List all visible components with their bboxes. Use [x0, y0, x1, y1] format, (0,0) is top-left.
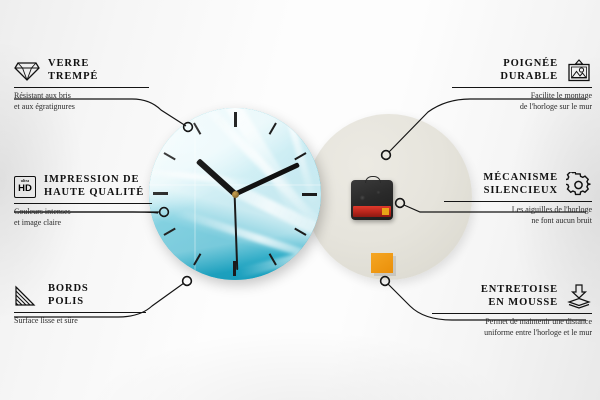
feature-title: IMPRESSION DE HAUTE QUALITÉ [44, 174, 144, 200]
feature-title: VERRE TREMPÉ [48, 58, 98, 84]
feature-description: Couleurs intenses et image claire [14, 207, 152, 229]
divider [432, 313, 592, 314]
divider [444, 201, 592, 202]
feature-title: POIGNÉE DURABLE [500, 58, 558, 84]
feature-description: Résistant aux bris et aux égratignures [14, 91, 149, 113]
feature-poignee-durable: POIGNÉE DURABLE Facilite le montage de l… [452, 58, 592, 112]
battery [353, 206, 391, 217]
feature-mecanisme-silencieux: MÉCANISME SILENCIEUX Les aiguilles de l'… [444, 172, 592, 227]
feature-title: MÉCANISME SILENCIEUX [483, 172, 558, 198]
divider [14, 312, 146, 313]
feature-title: ENTRETOISE EN MOUSSE [481, 284, 558, 310]
foam-spacer [371, 253, 393, 273]
feature-description: Les aiguilles de l'horloge ne font aucun… [444, 205, 592, 227]
divider [14, 203, 152, 204]
foam-spacer-icon [566, 284, 592, 310]
clock-front-view [149, 108, 321, 280]
feature-verre-trempe: VERRE TREMPÉ Résistant aux bris et aux é… [14, 58, 149, 112]
movement-detail [356, 187, 388, 205]
feature-entretoise-en-mousse: ENTRETOISE EN MOUSSE Permet de maintenir… [432, 284, 592, 339]
feature-description: Surface lisse et sûre [14, 316, 146, 327]
divider [14, 87, 149, 88]
clock-tick-3 [235, 193, 321, 195]
gear-icon [566, 172, 592, 198]
product-infographic: VERRE TREMPÉ Résistant aux bris et aux é… [0, 0, 600, 400]
picture-hanger-icon [566, 59, 592, 83]
clock-tick-12 [234, 108, 236, 194]
divider [452, 87, 592, 88]
feature-description: Facilite le montage de l'horloge sur le … [452, 91, 592, 113]
diamond-icon [14, 60, 40, 82]
polished-edge-icon [14, 285, 40, 307]
clock-movement [351, 180, 393, 220]
feature-bords-polis: BORDS POLIS Surface lisse et sûre [14, 283, 146, 327]
feature-impression-haute-qualite: ultra HD IMPRESSION DE HAUTE QUALITÉ Cou… [14, 174, 152, 228]
ultra-hd-icon: ultra HD [14, 176, 36, 198]
feature-title: BORDS POLIS [48, 283, 89, 309]
clock-tick-9 [149, 193, 235, 195]
feature-description: Permet de maintenir une distance uniform… [432, 317, 592, 339]
hand-cap [232, 191, 239, 198]
